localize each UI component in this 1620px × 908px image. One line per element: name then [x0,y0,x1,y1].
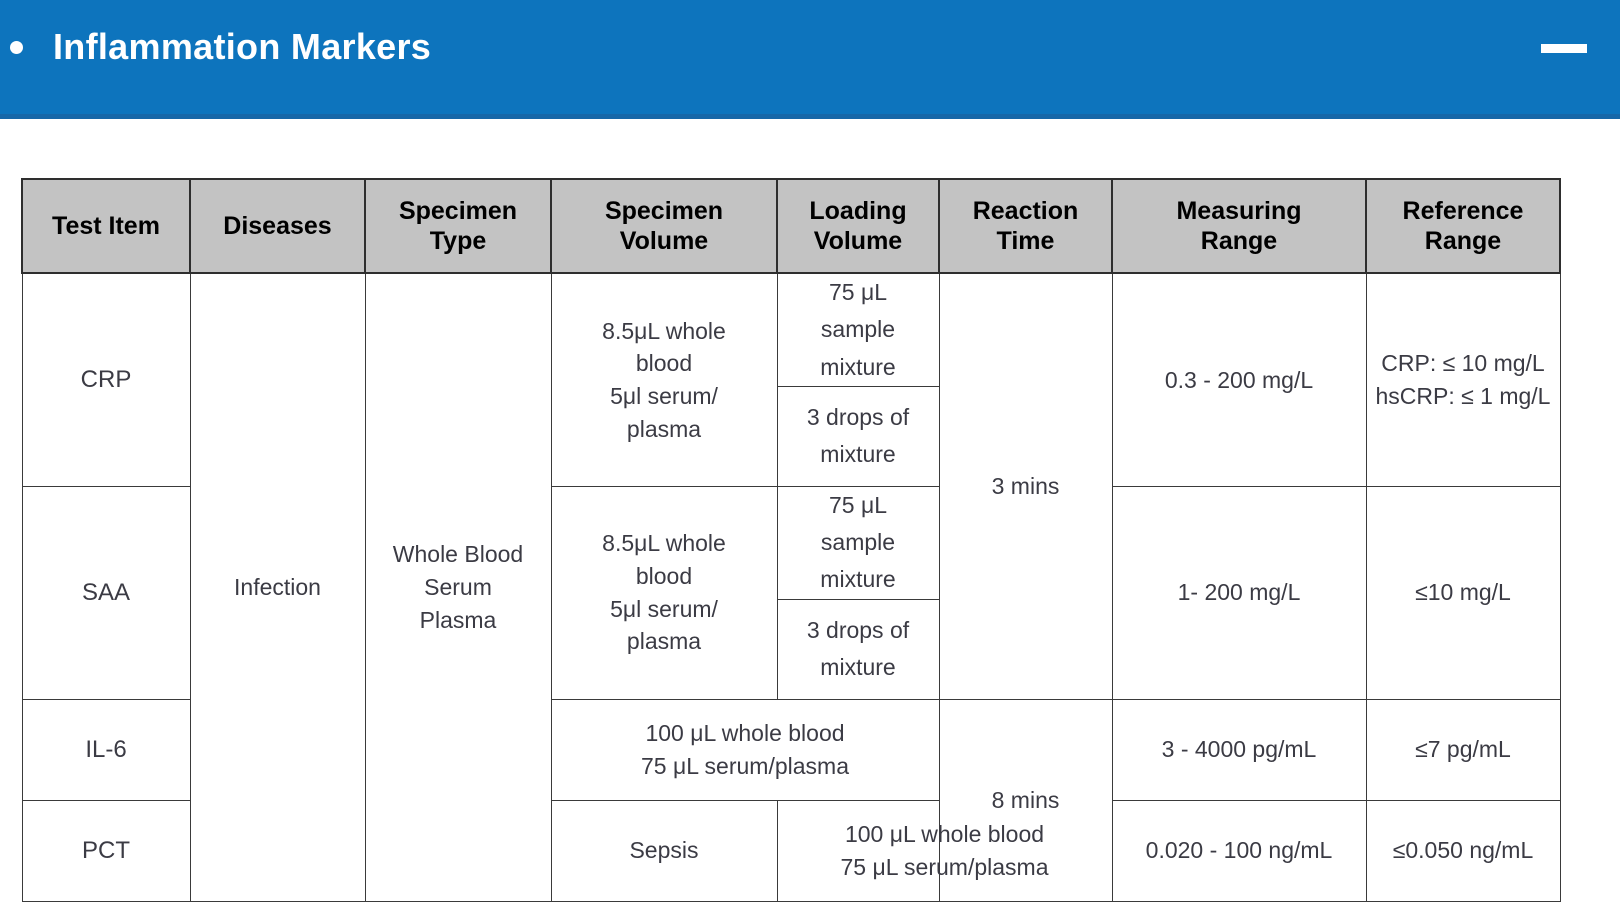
loading-volume-line: sample [778,311,939,348]
specimen-type-line: Plasma [366,604,551,637]
cell-specimen-volume: 8.5μL whole blood 5μl serum/ plasma [551,273,777,486]
header-line: Type [366,226,550,257]
cell-reference-range: ≤7 pg/mL [1366,699,1560,800]
loading-volume-line: 3 drops of [778,399,939,436]
column-header-reference-range: Reference Range [1366,179,1560,273]
specimen-volume-line: 5μl serum/ [552,593,777,626]
specification-table-container: Test Item Diseases Specimen Type Specime… [21,178,1561,902]
volume-line: 100 μL whole blood [552,717,939,750]
volume-line: 75 μL serum/plasma [552,750,939,783]
cell-specimen-type: Whole Blood Serum Plasma [365,273,551,901]
cell-test-item: SAA [22,486,190,699]
header-line: Diseases [191,211,364,242]
cell-measuring-range: 0.020 - 100 ng/mL [1112,800,1366,901]
table-head: Test Item Diseases Specimen Type Specime… [22,179,1560,273]
specimen-type-line: Serum [366,571,551,604]
specimen-volume-line: blood [552,560,777,593]
loading-volume-line: mixture [778,649,939,686]
cell-test-item: PCT [22,800,190,901]
inflammation-markers-table: Test Item Diseases Specimen Type Specime… [21,178,1561,902]
loading-volume-line: mixture [778,561,939,598]
cell-loading-volume-sample: 75 μL sample mixture [777,486,939,599]
table-row: CRP Infection Whole Blood Serum Plasma 8… [22,273,1560,386]
header-line: Measuring [1113,196,1365,227]
cell-reference-range: ≤0.050 ng/mL [1366,800,1560,901]
cell-reference-range: ≤10 mg/L [1366,486,1560,699]
specimen-volume-line: 8.5μL whole [552,527,777,560]
header-line: Volume [552,226,776,257]
header-line: Reference [1367,196,1559,227]
cell-loading-volume-drops: 3 drops of mixture [777,599,939,699]
cell-loading-volume-sample: 75 μL sample mixture [777,273,939,386]
cell-test-item: CRP [22,273,190,486]
table-header-row: Test Item Diseases Specimen Type Specime… [22,179,1560,273]
loading-volume-line: 3 drops of [778,612,939,649]
loading-volume-line: 75 μL [778,274,939,311]
cell-measuring-range: 3 - 4000 pg/mL [1112,699,1366,800]
page-title: Inflammation Markers [53,26,431,68]
cell-test-item: IL-6 [22,699,190,800]
loading-volume-line: 75 μL [778,487,939,524]
bullet-dot-icon [10,41,23,54]
column-header-specimen-type: Specimen Type [365,179,551,273]
specimen-volume-line: 8.5μL whole [552,315,777,348]
specimen-volume-line: plasma [552,413,777,446]
specimen-volume-line: plasma [552,625,777,658]
loading-volume-line: mixture [778,349,939,386]
volume-line: 100 μL whole blood [778,818,1112,851]
header-line: Range [1113,226,1365,257]
loading-volume-line: sample [778,524,939,561]
specimen-type-line: Whole Blood [366,538,551,571]
cell-volume-combined: 100 μL whole blood 75 μL serum/plasma [777,800,1112,901]
cell-measuring-range: 1- 200 mg/L [1112,486,1366,699]
minimize-icon[interactable] [1541,44,1587,53]
cell-reference-range: CRP: ≤ 10 mg/L hsCRP: ≤ 1 mg/L [1366,273,1560,486]
cell-diseases-sepsis: Sepsis [551,800,777,901]
header-line: Time [940,226,1111,257]
column-header-measuring-range: Measuring Range [1112,179,1366,273]
specimen-volume-line: blood [552,347,777,380]
header-line: Range [1367,226,1559,257]
column-header-diseases: Diseases [190,179,365,273]
header-line: Loading [778,196,938,227]
cell-specimen-volume: 8.5μL whole blood 5μl serum/ plasma [551,486,777,699]
cell-diseases-infection: Infection [190,273,365,901]
reference-range-line: hsCRP: ≤ 1 mg/L [1367,380,1560,413]
header-bar: Inflammation Markers [0,0,1620,114]
cell-reaction-time-3mins: 3 mins [939,273,1112,699]
header-line: Specimen [552,196,776,227]
volume-line: 75 μL serum/plasma [778,851,1112,884]
specimen-volume-line: 5μl serum/ [552,380,777,413]
header-line: Specimen [366,196,550,227]
cell-volume-combined: 100 μL whole blood 75 μL serum/plasma [551,699,939,800]
cell-loading-volume-drops: 3 drops of mixture [777,386,939,486]
column-header-test-item: Test Item [22,179,190,273]
column-header-loading-volume: Loading Volume [777,179,939,273]
reference-range-line: CRP: ≤ 10 mg/L [1367,347,1560,380]
column-header-specimen-volume: Specimen Volume [551,179,777,273]
cell-measuring-range: 0.3 - 200 mg/L [1112,273,1366,486]
loading-volume-line: mixture [778,436,939,473]
header-line: Test Item [23,211,189,242]
header-title-group: Inflammation Markers [10,26,431,68]
table-body: CRP Infection Whole Blood Serum Plasma 8… [22,273,1560,901]
header-line: Reaction [940,196,1111,227]
header-line: Volume [778,226,938,257]
header-underline [0,114,1620,119]
column-header-reaction-time: Reaction Time [939,179,1112,273]
